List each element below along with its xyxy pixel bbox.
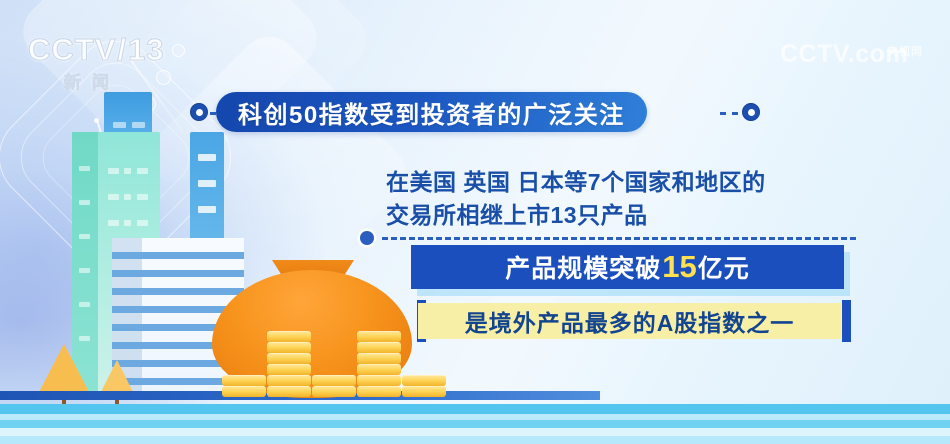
highlight-blue-suffix: 亿元 bbox=[698, 249, 750, 285]
cctv13-logo: CCTV/13 新闻 bbox=[28, 33, 188, 93]
highlight-blue-number: 15 bbox=[661, 249, 697, 285]
logo-cctv-text: CCTV bbox=[28, 32, 116, 67]
body-line-1: 在美国 英国 日本等7个国家和地区的 bbox=[386, 166, 846, 199]
headline-bullet-right-icon bbox=[742, 103, 760, 121]
highlight-yellow-text: 是境外产品最多的A股指数之一 bbox=[465, 304, 795, 338]
highlight-bar-blue: 产品规模突破 15 亿元 bbox=[411, 245, 844, 289]
highlight-bar-yellow: 是境外产品最多的A股指数之一 bbox=[418, 303, 841, 339]
body-line-2: 交易所相继上市13只产品 bbox=[386, 199, 846, 232]
headline-bullet-left-icon bbox=[190, 103, 208, 121]
body-dashed-rule bbox=[382, 237, 856, 240]
body-connector-dot-icon bbox=[360, 231, 374, 245]
logo-channel-number: 13 bbox=[128, 32, 164, 67]
bottom-stripe-band bbox=[0, 396, 950, 444]
highlight-blue-prefix: 产品规模突破 bbox=[505, 249, 661, 285]
logo-subtitle: 新闻 bbox=[64, 68, 188, 93]
headline-dash-right bbox=[720, 112, 738, 115]
logo-slash: / bbox=[117, 33, 127, 67]
headline-text: 科创50指数受到投资者的广泛关注 bbox=[238, 95, 625, 130]
highlight-yellow-tick-right bbox=[842, 300, 851, 342]
body-paragraph: 在美国 英国 日本等7个国家和地区的 交易所相继上市13只产品 bbox=[386, 166, 846, 232]
broadcast-graphic-frame: CCTV.com 央视网 bbox=[0, 0, 950, 444]
watermark-text-cn: 央视网 bbox=[887, 38, 923, 66]
cctv-com-watermark: CCTV.com 央视网 bbox=[780, 40, 925, 80]
logo-top-row: CCTV/13 bbox=[28, 33, 188, 67]
headline-pill: 科创50指数受到投资者的广泛关注 bbox=[216, 92, 647, 132]
